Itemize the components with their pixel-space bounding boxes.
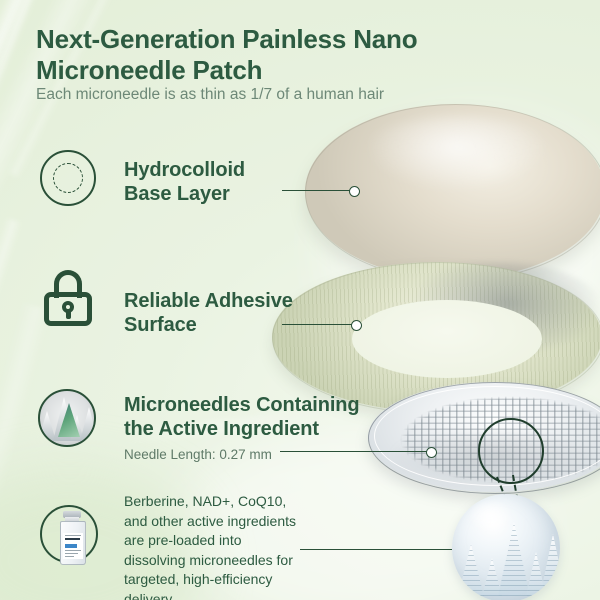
page-title: Next-Generation Painless Nano Microneedl… <box>36 24 466 86</box>
magnified-needle-cone <box>458 544 484 596</box>
vial-graphic <box>59 511 85 563</box>
lock-keyhole-stem <box>66 309 71 319</box>
microneedle-photo-icon <box>38 389 96 447</box>
page-subtitle: Each microneedle is as thin as 1/7 of a … <box>36 85 516 105</box>
vial-label-line <box>65 535 81 536</box>
dashed-circle-inner <box>53 163 83 193</box>
needle-cone <box>38 411 56 441</box>
vial-label-line <box>65 550 81 551</box>
magnified-needle-cone <box>540 534 560 596</box>
feature-paragraph-ingredients: Berberine, NAD+, CoQ10, and other active… <box>124 492 299 600</box>
vial-label-badge <box>65 544 77 548</box>
callout-dot-microneedles <box>426 447 437 458</box>
feature-heading-microneedles: Microneedles Containing the Active Ingre… <box>124 393 379 441</box>
vial-body <box>60 521 86 565</box>
needle-cone <box>80 407 96 441</box>
callout-dot-hydrocolloid <box>349 186 360 197</box>
magnifier-ring <box>478 418 544 484</box>
vial-label <box>63 533 83 559</box>
feature-heading-adhesive: Reliable Adhesive Surface <box>124 289 314 337</box>
feature-heading-hydrocolloid: Hydrocolloid Base Layer <box>124 158 294 206</box>
lock-icon <box>40 268 96 330</box>
infographic-canvas: Next-Generation Painless Nano Microneedl… <box>0 0 600 600</box>
vial-label-line <box>65 556 74 557</box>
dashed-circle-icon <box>40 150 96 206</box>
vial-icon <box>40 505 98 563</box>
feature-subtext-needle-length: Needle Length: 0.27 mm <box>124 446 344 463</box>
vial-label-brand <box>65 538 80 540</box>
vial-label-line <box>65 553 78 554</box>
magnified-sphere-highlight <box>466 502 520 540</box>
magnified-needle-cone <box>482 558 502 596</box>
callout-dot-adhesive <box>351 320 362 331</box>
callout-line-ingredients <box>300 549 452 550</box>
